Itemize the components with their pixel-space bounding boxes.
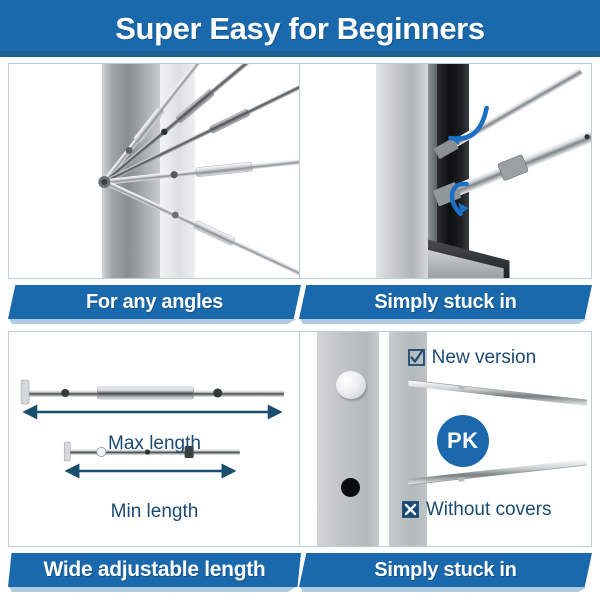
inserted-rods-illustration: [300, 64, 591, 278]
photo-for-any-angles: [8, 63, 301, 279]
option-without-covers-label: Without covers: [426, 499, 552, 521]
panel-simply-stuck-in-top: Simply stuck in: [299, 63, 592, 325]
option-new-version: New version: [408, 347, 537, 369]
rod-without-covers: [408, 459, 587, 485]
caption-wide-adjustable-length: Wide adjustable length: [8, 553, 301, 593]
crossed-box-icon: [402, 501, 419, 518]
caption-shadow: [300, 319, 587, 324]
caption-simply-stuck-in-top: Simply stuck in: [299, 285, 592, 325]
rod-max: [21, 380, 284, 404]
feature-grid: For any angles: [0, 57, 600, 600]
product-feature-graphic: Super Easy for Beginners: [0, 0, 600, 600]
rod-new-version: [408, 380, 587, 406]
caption-label: For any angles: [8, 285, 301, 319]
caption-label: Wide adjustable length: [8, 553, 301, 587]
header-banner: Super Easy for Beginners: [0, 0, 600, 57]
caption-shadow: [9, 587, 296, 592]
caption-shadow: [300, 587, 587, 592]
photo-simply-stuck-in-top: [299, 63, 592, 279]
panel-for-any-angles: For any angles: [8, 63, 301, 325]
photo-covers-comparison: PK New version Without covers: [299, 331, 592, 547]
caption-label: Simply stuck in: [299, 553, 592, 587]
caption-simply-stuck-in-bottom: Simply stuck in: [299, 553, 592, 593]
option-without-covers: Without covers: [402, 499, 552, 521]
photo-length-diagram: Max length Min length: [8, 331, 301, 547]
max-length-label: Max length: [9, 433, 300, 455]
arrow-min: [67, 466, 234, 477]
caption-for-any-angles: For any angles: [8, 285, 301, 325]
pk-badge: PK: [437, 415, 489, 467]
checked-box-icon: [408, 349, 425, 366]
min-length-label: Min length: [9, 501, 300, 523]
rod-fan-illustration: [9, 64, 300, 278]
arrow-max: [25, 407, 280, 418]
option-new-version-label: New version: [432, 347, 537, 369]
panel-simply-stuck-in-bottom: PK New version Without covers: [299, 331, 592, 593]
caption-shadow: [9, 319, 296, 324]
caption-label: Simply stuck in: [299, 285, 592, 319]
panel-wide-adjustable-length: Max length Min length Wide adjustable le…: [8, 331, 301, 593]
page-title: Super Easy for Beginners: [115, 11, 484, 47]
